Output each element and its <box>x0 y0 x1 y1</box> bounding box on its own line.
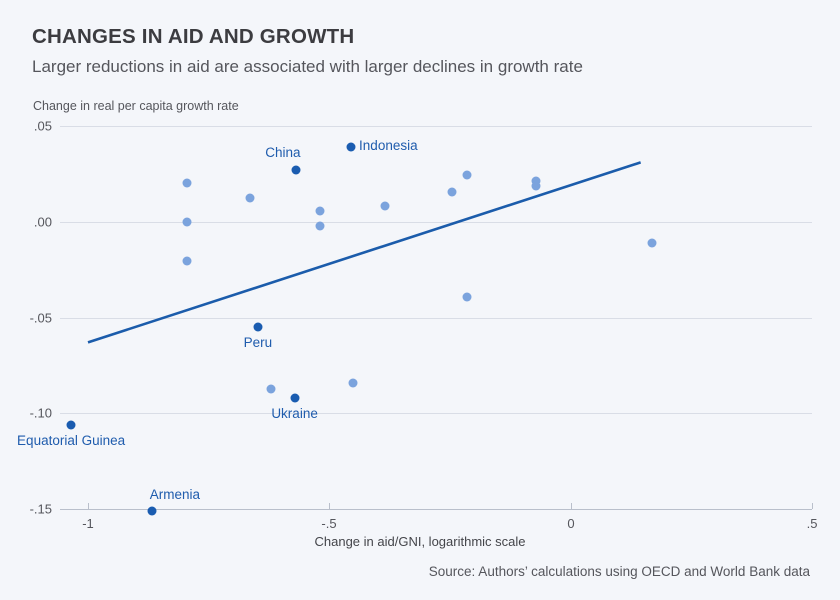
trendline <box>0 0 840 600</box>
y-axis-label: Change in real per capita growth rate <box>33 99 239 113</box>
data-point-indonesia <box>347 143 356 152</box>
data-point <box>448 188 457 197</box>
data-point <box>348 378 357 387</box>
data-point <box>182 217 191 226</box>
chart-figure: CHANGES IN AID AND GROWTH Larger reducti… <box>0 0 840 600</box>
data-point-label: Indonesia <box>359 138 418 153</box>
data-point <box>462 170 471 179</box>
data-point-label: Armenia <box>150 487 200 502</box>
data-point-label: Equatorial Guinea <box>17 433 125 448</box>
data-point <box>380 202 389 211</box>
data-point-armenia <box>147 506 156 515</box>
y-gridline <box>60 222 812 223</box>
plot-area: .05.00-.05-.10-.15-1-.50.5ChinaIndonesia… <box>0 0 840 600</box>
data-point-label: Ukraine <box>271 406 318 421</box>
x-axis-tick-mark <box>812 503 813 509</box>
x-axis-label: Change in aid/GNI, logarithmic scale <box>0 534 840 549</box>
y-axis-tick-label: .00 <box>0 215 52 230</box>
data-point-peru <box>253 323 262 332</box>
y-axis-tick-label: -.15 <box>0 502 52 517</box>
y-gridline <box>60 509 812 510</box>
data-point-label: Peru <box>244 335 273 350</box>
data-point <box>315 207 324 216</box>
x-axis-tick-label: 0 <box>567 516 574 531</box>
data-point <box>647 238 656 247</box>
data-point <box>267 385 276 394</box>
x-axis-line <box>60 509 812 510</box>
x-axis-tick-mark <box>88 503 89 509</box>
y-axis-tick-label: .05 <box>0 119 52 134</box>
x-axis-tick-mark <box>571 503 572 509</box>
data-point <box>182 179 191 188</box>
data-point-china <box>291 166 300 175</box>
x-axis-tick-label: -.5 <box>321 516 336 531</box>
x-axis-tick-label: .5 <box>807 516 818 531</box>
chart-subtitle: Larger reductions in aid are associated … <box>32 57 583 77</box>
data-point <box>315 221 324 230</box>
y-axis-tick-label: -.10 <box>0 406 52 421</box>
y-gridline <box>60 413 812 414</box>
y-gridline <box>60 318 812 319</box>
data-point <box>182 257 191 266</box>
y-gridline <box>60 126 812 127</box>
data-point-label: China <box>265 145 300 160</box>
data-point-equatorial-guinea <box>67 420 76 429</box>
source-note: Source: Authors’ calculations using OECD… <box>429 564 810 579</box>
y-axis-tick-label: -.05 <box>0 311 52 326</box>
data-point-ukraine <box>290 393 299 402</box>
data-point <box>462 293 471 302</box>
chart-title: CHANGES IN AID AND GROWTH <box>32 25 354 49</box>
x-axis-tick-label: -1 <box>82 516 94 531</box>
data-point <box>245 193 254 202</box>
x-axis-tick-mark <box>329 503 330 509</box>
data-point <box>531 182 540 191</box>
data-point <box>531 176 540 185</box>
